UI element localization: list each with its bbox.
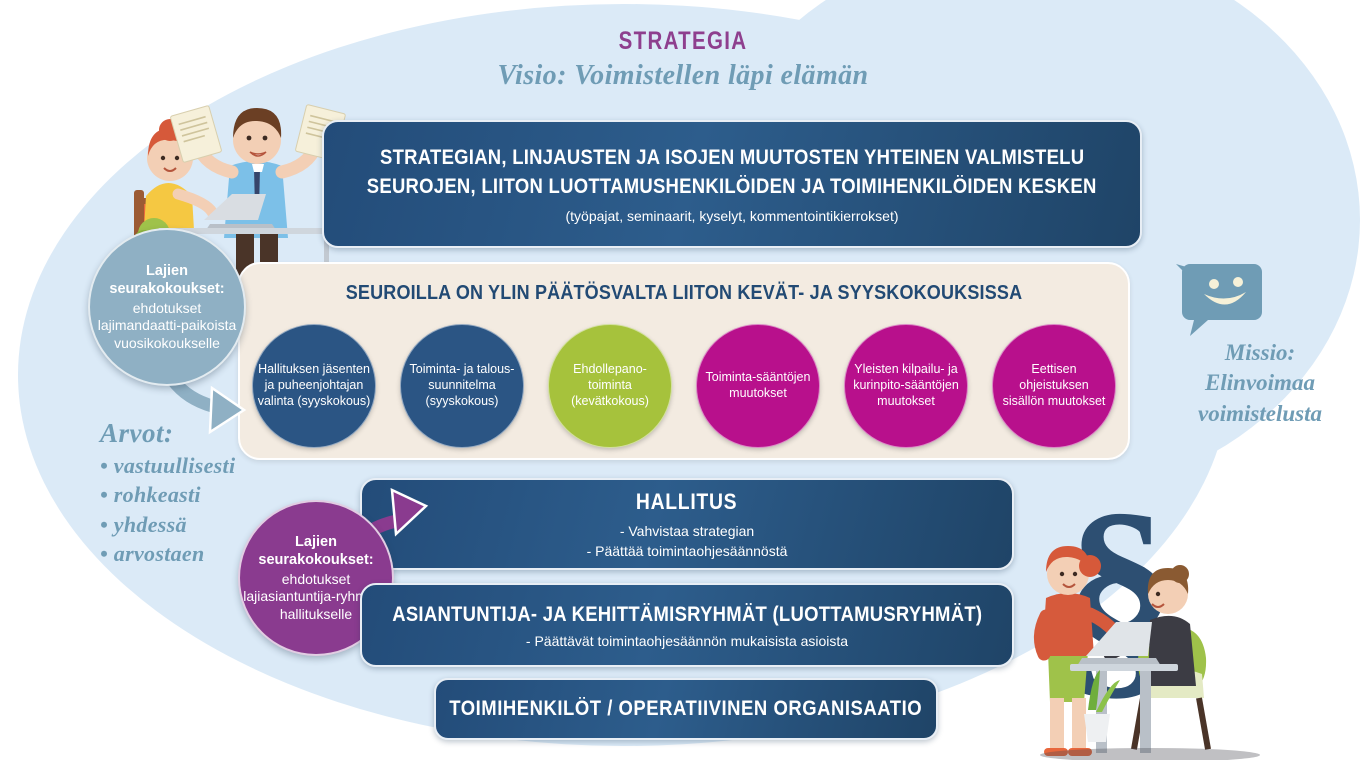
banner-title: TOIMIHENKILÖT / OPERATIIVINEN ORGANISAAT… (450, 695, 923, 724)
speech-bubble-smiley-icon (1176, 256, 1268, 342)
circle-title: Lajien seurakokoukset: (90, 262, 244, 298)
mission-line-1: Missio: (1170, 338, 1350, 368)
decision-bubble[interactable]: Eettisen ohjeistuksen sisällön muutokset (992, 324, 1116, 448)
illustration-paragraph-symbol-people: § (1000, 470, 1300, 760)
infographic-canvas: STRATEGIA Visio: Voimistellen läpi elämä… (0, 0, 1366, 768)
banner-line-1: STRATEGIAN, LINJAUSTEN JA ISOJEN MUUTOST… (380, 144, 1084, 173)
banner-hallitus: HALLITUS - Vahvistaa strategian - Päättä… (360, 478, 1014, 570)
banner-strategy-preparation: STRATEGIAN, LINJAUSTEN JA ISOJEN MUUTOST… (322, 120, 1142, 248)
value-item: • arvostaen (100, 539, 330, 568)
value-item: • vastuullisesti (100, 451, 330, 480)
values-list: Arvot: • vastuullisesti • rohkeasti • yh… (100, 418, 330, 568)
panel-member-clubs-authority: SEUROILLA ON YLIN PÄÄTÖSVALTA LIITON KEV… (238, 262, 1130, 460)
decision-bubble[interactable]: Toiminta-sääntöjen muutokset (696, 324, 820, 448)
banner-note: - Päättävät toimintaohjesäännön mukaisis… (526, 633, 848, 649)
panel-title: SEUROILLA ON YLIN PÄÄTÖSVALTA LIITON KEV… (284, 282, 1083, 305)
circle-lajien-seurakokoukset-annual[interactable]: Lajien seurakokoukset: ehdotukset lajima… (88, 228, 246, 386)
circle-body: ehdotukset lajimandaatti-paikoista vuosi… (90, 300, 244, 353)
hallitus-duty-1: - Vahvistaa strategian (587, 521, 788, 541)
banner-title: ASIANTUNTIJA- JA KEHITTÄMISRYHMÄT (LUOTT… (392, 601, 982, 630)
values-heading: Arvot: (100, 418, 330, 449)
value-item: • rohkeasti (100, 480, 330, 509)
banner-toimihenkilot: TOIMIHENKILÖT / OPERATIIVINEN ORGANISAAT… (434, 678, 938, 740)
banner-line-2: SEUROJEN, LIITON LUOTTAMUSHENKILÖIDEN JA… (367, 173, 1097, 202)
banner-asiantuntija-kehittamisryhmat: ASIANTUNTIJA- JA KEHITTÄMISRYHMÄT (LUOTT… (360, 583, 1014, 667)
mission-line-3: voimistelusta (1170, 399, 1350, 429)
banner-title: HALLITUS (636, 487, 737, 517)
mission-statement: Missio: Elinvoimaa voimistelusta (1170, 338, 1350, 429)
decision-bubble[interactable]: Yleisten kilpailu- ja kurinpito-sääntöje… (844, 324, 968, 448)
decision-bubble[interactable]: Ehdollepano-toiminta (kevätkokous) (548, 324, 672, 448)
decision-bubble-row: Hallituksen jäsenten ja puheenjohtajan v… (252, 322, 1116, 450)
value-item: • yhdessä (100, 510, 330, 539)
decision-bubble[interactable]: Toiminta- ja talous-suunnitelma (syyskok… (400, 324, 524, 448)
banner-note: (työpajat, seminaarit, kyselyt, kommento… (566, 208, 899, 224)
hallitus-duty-2: - Päättää toimintaohjesäännöstä (587, 541, 788, 561)
mission-line-2: Elinvoimaa (1170, 368, 1350, 398)
